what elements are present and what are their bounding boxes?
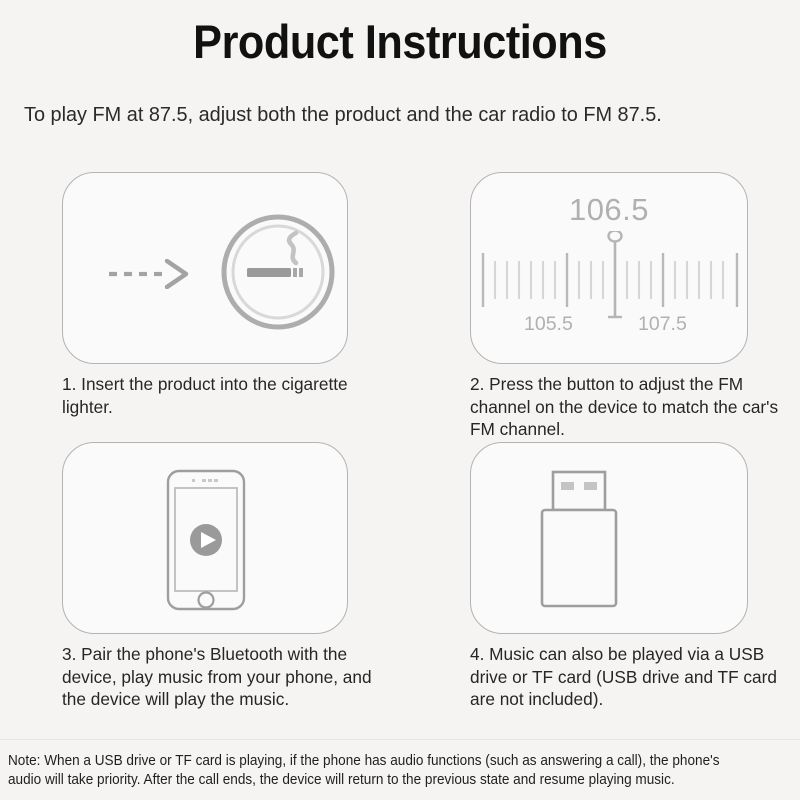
step-caption-1: 1. Insert the product into the cigarette… bbox=[62, 373, 385, 418]
smartphone-icon bbox=[166, 469, 246, 616]
footer-note: Note: When a USB drive or TF card is pla… bbox=[8, 752, 741, 790]
step-caption-4: 4. Music can also be played via a USB dr… bbox=[470, 643, 793, 711]
step-caption-2: 2. Press the button to adjust the FM cha… bbox=[470, 373, 793, 441]
usb-flash-drive-icon bbox=[539, 469, 619, 616]
step-block-3: 3. Pair the phone's Bluetooth with the d… bbox=[62, 442, 392, 711]
dashed-arrow-icon bbox=[107, 259, 191, 294]
step-block-2: 106.5 bbox=[470, 172, 800, 441]
tuner-current-frequency: 106.5 bbox=[471, 192, 747, 228]
footer-divider bbox=[0, 739, 800, 740]
step-caption-3: 3. Pair the phone's Bluetooth with the d… bbox=[62, 643, 385, 711]
tuner-left-label: 105.5 bbox=[524, 313, 573, 336]
illustration-panel-usb-drive bbox=[470, 442, 748, 634]
illustration-panel-smartphone bbox=[62, 442, 348, 634]
step-block-1: 1. Insert the product into the cigarette… bbox=[62, 172, 392, 418]
step-block-4: 4. Music can also be played via a USB dr… bbox=[470, 442, 800, 711]
cigarette-lighter-icon bbox=[220, 214, 336, 335]
illustration-panel-cigarette-lighter bbox=[62, 172, 348, 364]
tuner-scale-icon bbox=[471, 231, 748, 336]
product-instructions-page: Product Instructions To play FM at 87.5,… bbox=[0, 0, 800, 800]
tuner-right-label: 107.5 bbox=[638, 313, 687, 336]
intro-text: To play FM at 87.5, adjust both the prod… bbox=[24, 100, 757, 130]
page-title: Product Instructions bbox=[32, 14, 768, 69]
illustration-panel-fm-tuner: 106.5 bbox=[470, 172, 748, 364]
